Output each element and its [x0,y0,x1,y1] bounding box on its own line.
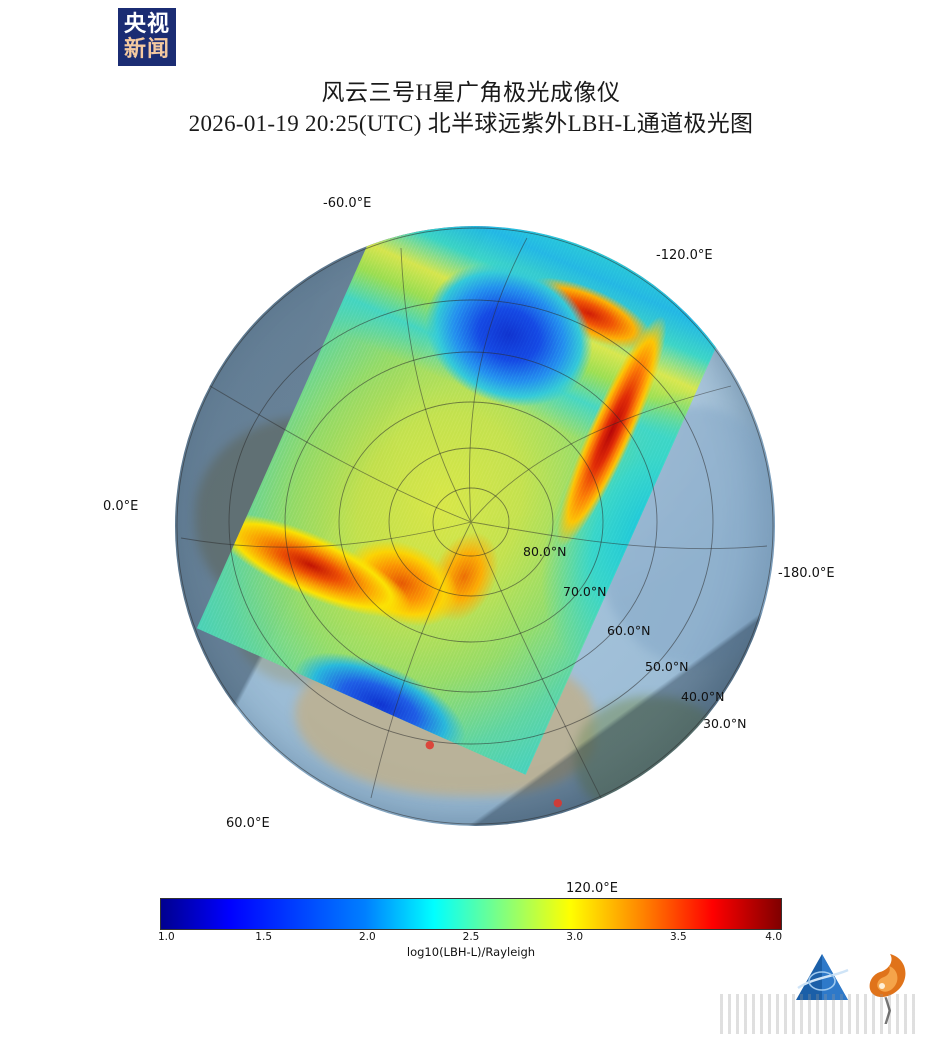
colorbar-tick-6: 3.5 [670,931,687,943]
lon-label-minus-180: -180.0°E [778,566,835,581]
graticule-grid [175,226,775,826]
colorbar-tick-2: 1.5 [255,931,272,943]
lat-label-80: 80.0°N [523,544,566,559]
colorbar-gradient [160,898,782,930]
lon-label-0: 0.0°E [103,499,138,514]
aurora-figure: -60.0°E -120.0°E -180.0°E 0.0°E 60.0°E 1… [0,170,942,870]
city-marker-1: ● [425,738,437,751]
colorbar-tick-3: 2.0 [359,931,376,943]
lon-label-120: 120.0°E [566,881,618,896]
lat-label-30: 30.0°N [703,716,746,731]
colorbar-tick-1: 1.0 [158,931,175,943]
colorbar: 1.0 1.5 2.0 2.5 3.0 3.5 4.0 log10(LBH-L)… [160,898,782,959]
lon-label-60: 60.0°E [226,816,270,831]
logo-line-2: 新闻 [124,37,170,62]
title-line-2: 2026-01-19 20:25(UTC) 北半球远紫外LBH-L通道极光图 [0,108,942,140]
colorbar-tick-5: 3.0 [566,931,583,943]
colorbar-tick-4: 2.5 [463,931,480,943]
title-line-1: 风云三号H星广角极光成像仪 [0,78,942,108]
watermark-arrow-icon: ⟩ [882,996,894,1026]
watermark: ⟩ [790,948,935,1034]
city-marker-2: ● [553,796,565,809]
lon-label-minus-60: -60.0°E [323,196,371,211]
lon-label-minus-120: -120.0°E [656,248,713,263]
lat-label-60: 60.0°N [607,623,650,638]
colorbar-label: log10(LBH-L)/Rayleigh [160,945,782,959]
logo-line-1: 央视 [124,12,170,37]
earth-globe [175,226,775,826]
globe-container: -60.0°E -120.0°E -180.0°E 0.0°E 60.0°E 1… [175,226,775,826]
orange-flame-icon [870,954,906,997]
lat-label-50: 50.0°N [645,659,688,674]
cctv-news-logo: 央视 新闻 [118,8,176,66]
colorbar-ticks: 1.0 1.5 2.0 2.5 3.0 3.5 4.0 [160,930,782,946]
page-title: 风云三号H星广角极光成像仪 2026-01-19 20:25(UTC) 北半球远… [0,78,942,140]
lat-label-40: 40.0°N [681,689,724,704]
lat-label-70: 70.0°N [563,584,606,599]
colorbar-tick-7: 4.0 [765,931,782,943]
